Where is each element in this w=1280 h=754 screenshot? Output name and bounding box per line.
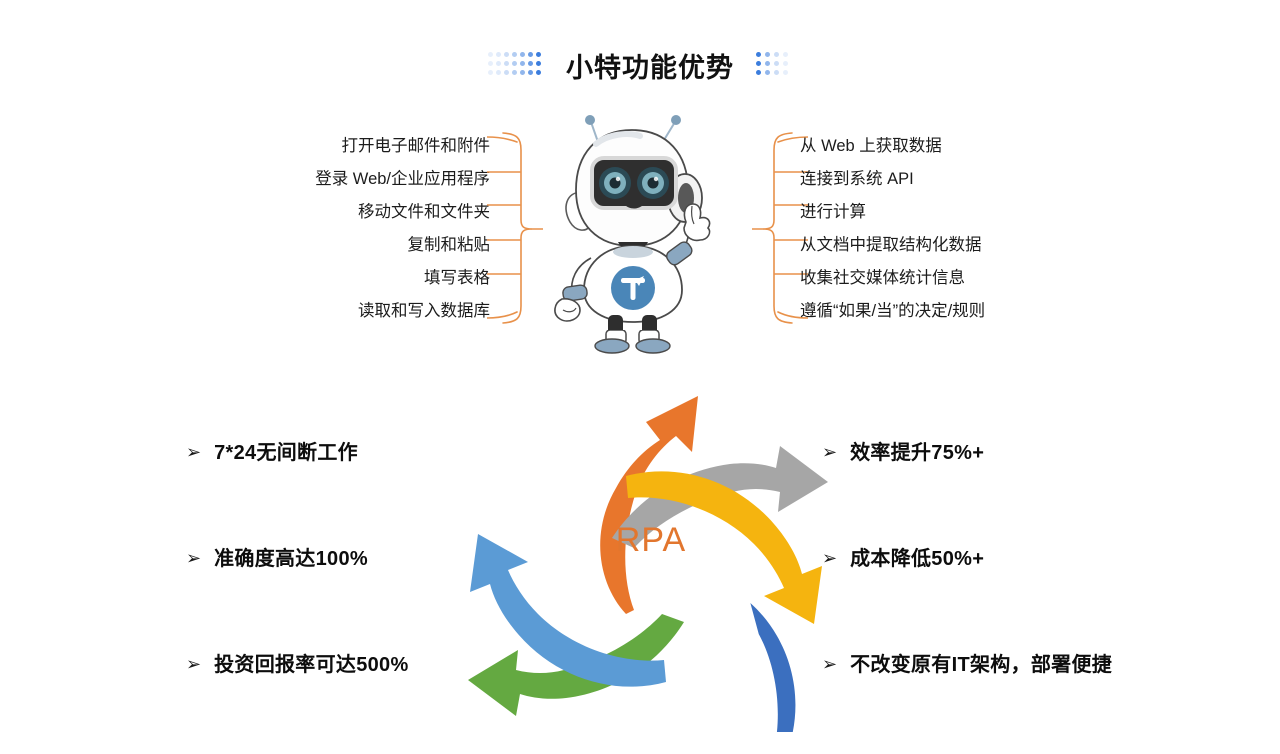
bullet-arrow-icon: ➢	[186, 549, 201, 567]
benefit-list-left: ➢ 7*24无间断工作 ➢ 准确度高达100% ➢ 投资回报率可达500%	[186, 436, 516, 754]
feature-item: 填写表格	[424, 262, 490, 295]
benefit-label: 准确度高达100%	[214, 542, 368, 571]
bullet-arrow-icon: ➢	[186, 443, 201, 461]
brace-left-icon	[487, 128, 543, 328]
benefit-item: ➢ 7*24无间断工作	[186, 436, 516, 542]
slide-canvas: 小特功能优势 打开电子邮件和附件 登录 Web/企业应用程序 移动文件和文件夹 …	[0, 0, 1280, 720]
robot-mascot-icon	[536, 100, 736, 330]
feature-item: 复制和粘贴	[408, 229, 491, 262]
feature-item: 连接到系统 API	[800, 163, 914, 196]
benefit-item: ➢ 成本降低50%+	[822, 542, 1222, 648]
feature-list-left: 打开电子邮件和附件 登录 Web/企业应用程序 移动文件和文件夹 复制和粘贴 填…	[240, 130, 490, 328]
bullet-arrow-icon: ➢	[822, 549, 837, 567]
dot-grid-left-icon	[488, 52, 544, 79]
benefit-label: 7*24无间断工作	[214, 436, 358, 465]
benefit-item: ➢ 效率提升75%+	[822, 436, 1222, 542]
feature-item: 收集社交媒体统计信息	[800, 262, 965, 295]
antenna-left-tip-icon	[585, 115, 595, 125]
feature-item: 遵循“如果/当”的决定/规则	[800, 295, 985, 328]
bullet-arrow-icon: ➢	[186, 655, 201, 673]
benefit-list-right: ➢ 效率提升75%+ ➢ 成本降低50%+ ➢ 不改变原有IT架构，部署便捷	[822, 436, 1222, 754]
feature-item: 移动文件和文件夹	[358, 196, 490, 229]
page-title-band: 小特功能优势	[0, 36, 1280, 94]
bullet-arrow-icon: ➢	[822, 655, 837, 673]
benefit-item: ➢ 投资回报率可达500%	[186, 648, 516, 754]
dot-grid-right-icon	[756, 52, 792, 79]
arrow-blue-down	[695, 599, 816, 732]
feature-item: 登录 Web/企业应用程序	[315, 163, 490, 196]
feature-item: 从 Web 上获取数据	[800, 130, 942, 163]
benefit-item: ➢ 准确度高达100%	[186, 542, 516, 648]
feature-item: 进行计算	[800, 196, 866, 229]
rpa-center-label: RPA	[596, 521, 706, 560]
benefit-label: 投资回报率可达500%	[214, 648, 408, 677]
bullet-arrow-icon: ➢	[822, 443, 837, 461]
page-title: 小特功能优势	[566, 46, 734, 85]
antenna-right-tip-icon	[671, 115, 681, 125]
feature-list-right: 从 Web 上获取数据 连接到系统 API 进行计算 从文档中提取结构化数据 收…	[800, 130, 1100, 328]
benefit-item: ➢ 不改变原有IT架构，部署便捷	[822, 648, 1222, 754]
benefit-label: 成本降低50%+	[850, 542, 984, 571]
benefit-label: 效率提升75%+	[850, 436, 984, 465]
feature-item: 读取和写入数据库	[358, 295, 490, 328]
feature-item: 打开电子邮件和附件	[342, 130, 491, 163]
feature-item: 从文档中提取结构化数据	[800, 229, 982, 262]
benefit-label: 不改变原有IT架构，部署便捷	[850, 648, 1112, 677]
